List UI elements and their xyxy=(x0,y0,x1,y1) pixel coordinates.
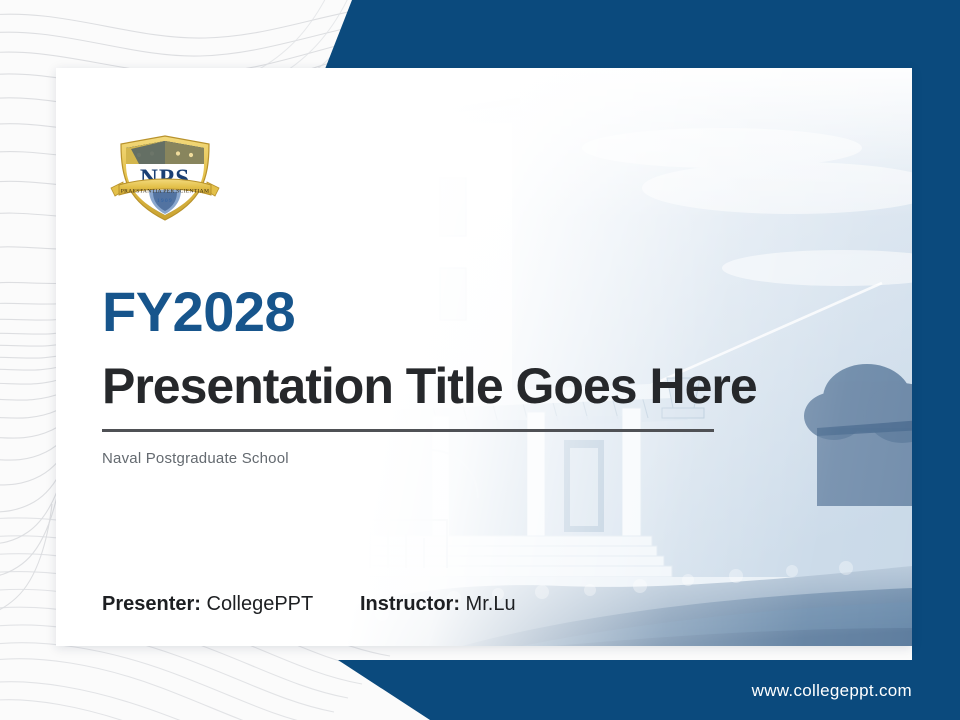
title-text-block: FY2028 Presentation Title Goes Here Nava… xyxy=(102,283,757,467)
fiscal-year-heading: FY2028 xyxy=(102,283,757,342)
title-divider xyxy=(102,429,714,432)
instructor-name: Mr.Lu xyxy=(466,593,516,615)
credits-line: Presenter: CollegePPT Instructor: Mr.Lu xyxy=(102,593,516,616)
slide-content-card: NPS 1909 PRAESTANTIA PER SCIENTIAM FY202… xyxy=(56,68,912,646)
school-name: Naval Postgraduate School xyxy=(102,450,757,467)
presentation-slide: NPS 1909 PRAESTANTIA PER SCIENTIAM FY202… xyxy=(0,0,960,720)
nps-shield-logo: NPS 1909 PRAESTANTIA PER SCIENTIAM xyxy=(101,130,229,226)
svg-text:1909: 1909 xyxy=(157,198,173,204)
page-title: Presentation Title Goes Here xyxy=(102,360,757,413)
website-url[interactable]: www.collegeppt.com xyxy=(752,681,912,701)
svg-text:PRAESTANTIA PER SCIENTIAM: PRAESTANTIA PER SCIENTIAM xyxy=(121,189,209,195)
presenter-name: CollegePPT xyxy=(207,593,313,615)
presenter-label: Presenter: xyxy=(102,593,201,615)
instructor-label: Instructor: xyxy=(360,593,460,615)
